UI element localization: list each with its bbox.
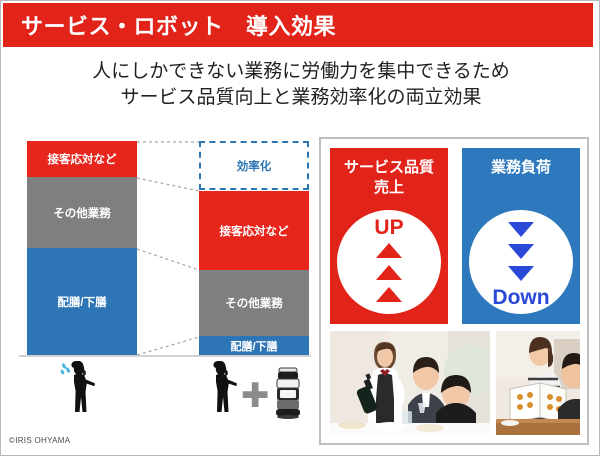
copyright-text: ©IRIS OHYAMA [9, 436, 70, 445]
photo-wine-service [330, 331, 490, 435]
subtitle-line-1: 人にしかできない業務に労働力を集中できるため [1, 59, 600, 85]
kpi-quality-circle: UP [337, 210, 441, 314]
kpi-workload-word: Down [469, 286, 573, 310]
plus-icon: ✚ [241, 379, 270, 413]
kpi-quality-label: サービス品質売上 [330, 158, 448, 198]
up-arrow-icon [376, 265, 402, 280]
kpi-card-workload: 業務負荷 Down [462, 148, 580, 324]
effects-panel: サービス品質売上 UP 業務負荷 Down [319, 137, 589, 445]
bar-after: 効率化 接客応対など その他業務 配膳/下膳 [199, 141, 309, 355]
staff-silhouette-icon [57, 361, 103, 419]
down-arrow-icon [508, 266, 534, 281]
kpi-quality-word: UP [337, 216, 441, 240]
photo-menu-service [496, 331, 580, 435]
photo-row [330, 331, 580, 435]
kpi-card-quality: サービス品質売上 UP [330, 148, 448, 324]
kpi-workload-label: 業務負荷 [462, 158, 580, 178]
down-arrow-icon [508, 222, 534, 237]
bar-before: 接客応対など その他業務 配膳/下膳 [27, 141, 137, 355]
kpi-row: サービス品質売上 UP 業務負荷 Down [330, 148, 580, 324]
kpi-workload-circle: Down [469, 210, 573, 314]
segment-serving: 配膳/下膳 [27, 248, 137, 355]
subtitle-line-2: サービス品質向上と業務効率化の両立効果 [1, 85, 600, 111]
segment-other-tasks: その他業務 [27, 177, 137, 248]
chart-baseline [19, 355, 311, 357]
figure-row: ✚ [9, 361, 315, 423]
segment-customer-service: 接客応対など [27, 141, 137, 177]
segment-efficiency-gain: 効率化 [199, 141, 309, 190]
slide-root: サービス・ロボット 導入効果 人にしかできない業務に労働力を集中できるため サー… [0, 0, 600, 456]
segment-other-tasks: その他業務 [199, 270, 309, 336]
title-banner: サービス・ロボット 導入効果 [3, 3, 593, 47]
subtitle-block: 人にしかできない業務に労働力を集中できるため サービス品質向上と業務効率化の両立… [1, 59, 600, 111]
service-robot-icon [273, 367, 303, 419]
stacked-bar-chart: 接客応対など その他業務 配膳/下膳 効率化 接客応対など その他業務 配膳/下… [9, 133, 315, 369]
up-arrow-icon [376, 243, 402, 258]
down-arrow-icon [508, 244, 534, 259]
kpi-quality-label-line2: 売上 [374, 179, 404, 196]
segment-serving: 配膳/下膳 [199, 336, 309, 355]
staff-silhouette-icon [199, 361, 245, 419]
page-title: サービス・ロボット 導入効果 [21, 9, 336, 41]
segment-customer-service: 接客応対など [199, 191, 309, 270]
up-arrow-icon [376, 287, 402, 302]
kpi-quality-label-line1: サービス品質 [344, 159, 434, 176]
